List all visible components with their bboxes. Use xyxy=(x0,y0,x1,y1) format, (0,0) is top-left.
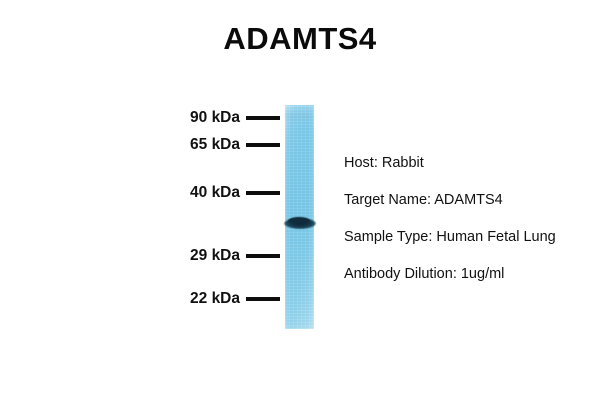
gel-lane-well xyxy=(286,113,313,119)
marker-40-tick-icon xyxy=(246,191,280,195)
blot-panel: 90 kDa 65 kDa 40 kDa 29 kDa 22 kDa xyxy=(0,0,340,400)
marker-65-label: 65 kDa xyxy=(190,135,240,155)
assay-info-block: Host: Rabbit Target Name: ADAMTS4 Sample… xyxy=(344,155,600,283)
info-host: Host: Rabbit xyxy=(344,155,600,172)
marker-22: 22 kDa xyxy=(150,289,280,309)
marker-22-label: 22 kDa xyxy=(190,289,240,309)
marker-90: 90 kDa xyxy=(150,108,280,128)
marker-40: 40 kDa xyxy=(150,183,280,203)
info-antibody-dilution: Antibody Dilution: 1ug/ml xyxy=(344,266,600,283)
info-sample-type: Sample Type: Human Fetal Lung xyxy=(344,229,600,246)
marker-90-label: 90 kDa xyxy=(190,108,240,128)
marker-29-label: 29 kDa xyxy=(190,246,240,266)
protein-band xyxy=(284,217,316,230)
marker-65: 65 kDa xyxy=(150,135,280,155)
marker-22-tick-icon xyxy=(246,297,280,301)
info-target-name: Target Name: ADAMTS4 xyxy=(344,192,600,209)
marker-90-tick-icon xyxy=(246,116,280,120)
marker-40-label: 40 kDa xyxy=(190,183,240,203)
western-blot-figure: ADAMTS4 90 kDa 65 kDa 40 kDa 29 kDa 22 k… xyxy=(0,0,600,400)
marker-29-tick-icon xyxy=(246,254,280,258)
marker-65-tick-icon xyxy=(246,143,280,147)
protein-band-cap xyxy=(288,217,310,223)
marker-29: 29 kDa xyxy=(150,246,280,266)
